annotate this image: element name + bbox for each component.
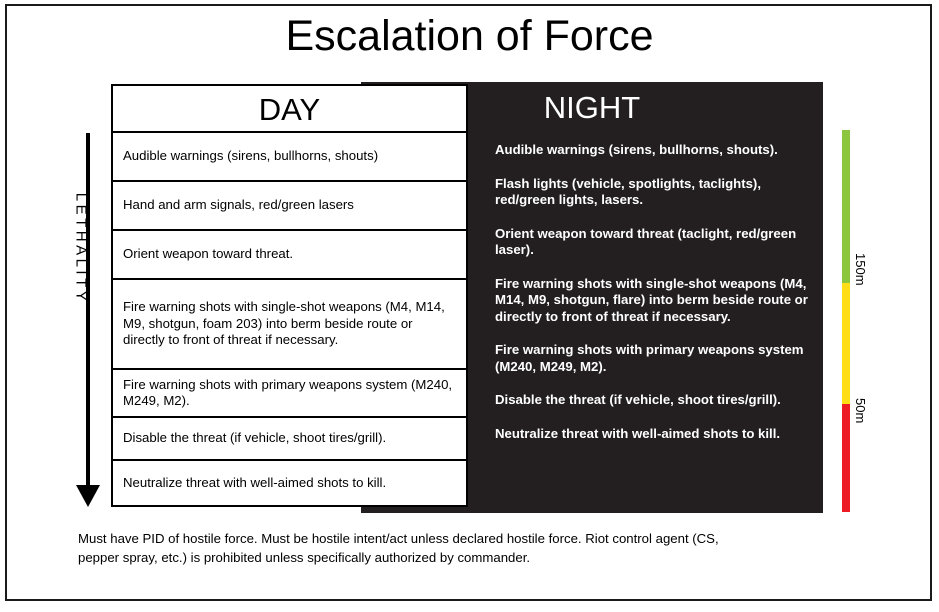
distance-tick-50m: 50m <box>853 398 868 423</box>
lethality-arrow-shaft-icon <box>86 133 90 488</box>
list-item: Orient weapon toward threat (taclight, r… <box>495 226 813 259</box>
list-item: Neutralize threat with well-aimed shots … <box>495 426 813 443</box>
lethality-arrow-head-icon <box>76 485 100 507</box>
day-table: DAY Audible warnings (sirens, bullhorns,… <box>111 84 468 507</box>
escalation-of-force-diagram: Escalation of Force NIGHT Audible warnin… <box>0 0 939 612</box>
day-column-header: DAY <box>113 86 466 133</box>
night-step-list: Audible warnings (sirens, bullhorns, sho… <box>495 142 813 459</box>
table-row: Hand and arm signals, red/green lasers <box>113 182 466 231</box>
footer-note: Must have PID of hostile force. Must be … <box>78 529 758 567</box>
table-row: Neutralize threat with well-aimed shots … <box>113 461 466 505</box>
distance-segment-near <box>842 404 850 512</box>
table-row: Orient weapon toward threat. <box>113 231 466 280</box>
distance-segment-far <box>842 130 850 283</box>
list-item: Audible warnings (sirens, bullhorns, sho… <box>495 142 813 159</box>
table-row: Audible warnings (sirens, bullhorns, sho… <box>113 133 466 182</box>
distance-segment-mid <box>842 283 850 404</box>
list-item: Fire warning shots with single-shot weap… <box>495 276 813 326</box>
list-item: Disable the threat (if vehicle, shoot ti… <box>495 392 813 409</box>
lethality-label: LETHALITY <box>73 189 90 309</box>
table-row: Fire warning shots with single-shot weap… <box>113 280 466 370</box>
page-title: Escalation of Force <box>0 12 939 61</box>
distance-tick-150m: 150m <box>853 253 868 286</box>
list-item: Flash lights (vehicle, spotlights, tacli… <box>495 176 813 209</box>
list-item: Fire warning shots with primary weapons … <box>495 342 813 375</box>
table-row: Disable the threat (if vehicle, shoot ti… <box>113 418 466 461</box>
table-row: Fire warning shots with primary weapons … <box>113 370 466 418</box>
distance-color-bar <box>842 130 850 512</box>
